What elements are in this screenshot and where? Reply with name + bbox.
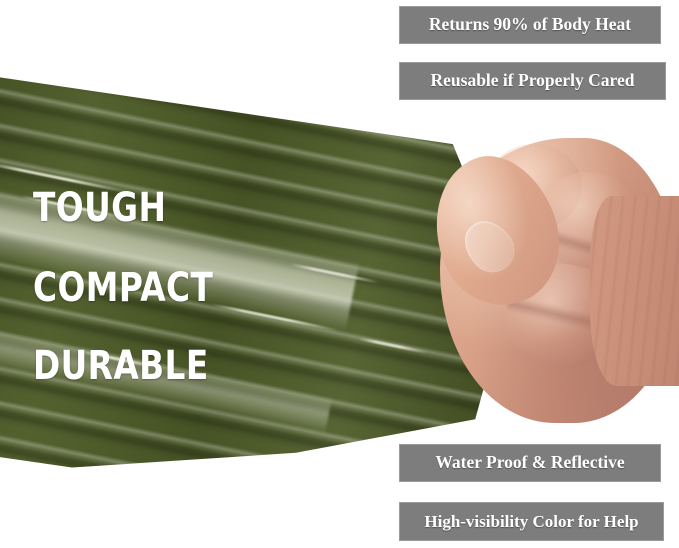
hand-holding-product (430, 128, 679, 428)
feature-badge-high-visibility: High-visibility Color for Help (399, 502, 664, 541)
wrist (590, 196, 679, 386)
product-image-canvas: TOUGH COMPACT DURABLE Returns 90% of Bod… (0, 0, 679, 548)
slogan-tough: TOUGH (33, 188, 166, 228)
feature-badge-reusable: Reusable if Properly Cared (399, 62, 666, 100)
feature-badge-returns-body-heat: Returns 90% of Body Heat (399, 6, 661, 44)
thumbnail (455, 212, 523, 282)
slogan-durable: DURABLE (33, 346, 209, 386)
slogan-compact: COMPACT (33, 268, 213, 308)
feature-badge-water-proof: Water Proof & Reflective (399, 444, 661, 482)
